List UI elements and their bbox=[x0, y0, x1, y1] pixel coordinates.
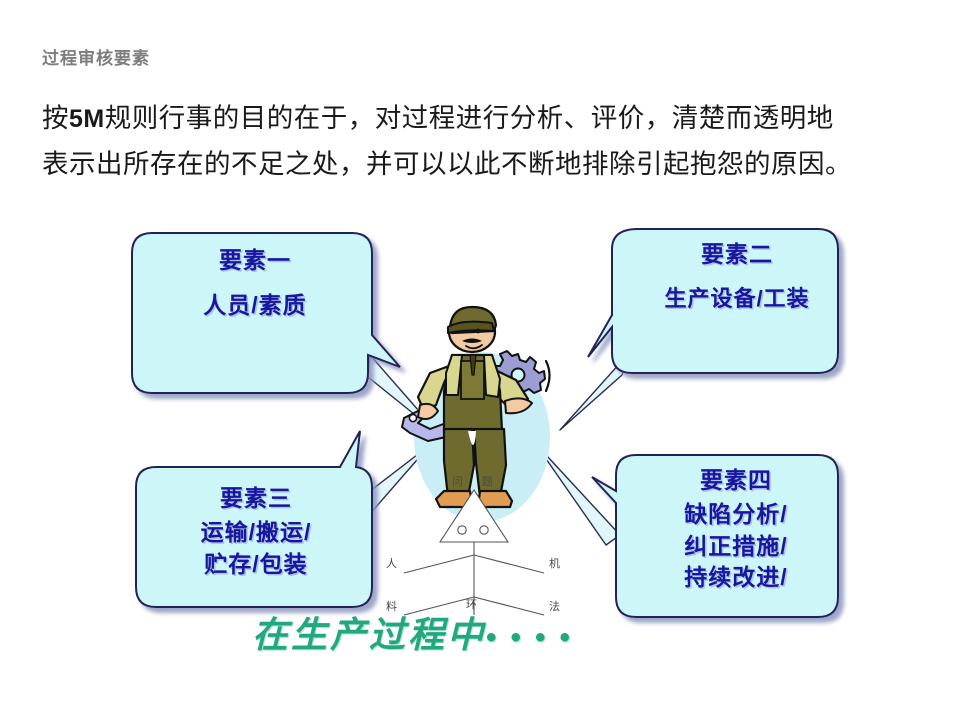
fishbone-eye-left bbox=[458, 526, 466, 534]
paragraph-line-1-post: 规则行事的目的在于，对过程进行分析、评价，清楚而透明地 bbox=[105, 103, 834, 133]
paragraph-line-1-latin: 5M bbox=[69, 105, 105, 133]
worker-eye bbox=[476, 329, 481, 334]
bubble-element-one[interactable] bbox=[132, 233, 400, 393]
fishbone-eye-right bbox=[480, 526, 488, 534]
paragraph-line-1: 按5M规则行事的目的在于，对过程进行分析、评价，清楚而透明地 bbox=[42, 96, 922, 142]
slide-body-paragraph: 按5M规则行事的目的在于，对过程进行分析、评价，清楚而透明地 表示出所存在的不足… bbox=[42, 96, 922, 187]
slide-kicker-title: 过程审核要素 bbox=[42, 44, 150, 69]
footer-caption: 在生产过程中•••• bbox=[252, 606, 584, 658]
fishbone-branch-ji bbox=[474, 555, 544, 573]
worker-cap-brim bbox=[448, 322, 494, 333]
bubble-element-three[interactable] bbox=[136, 431, 372, 607]
slide-canvas: 过程审核要素 按5M规则行事的目的在于，对过程进行分析、评价，清楚而透明地 表示… bbox=[0, 0, 960, 720]
fishbone-diagram bbox=[404, 490, 544, 615]
bubble-element-four[interactable] bbox=[592, 455, 838, 617]
worker-shirt-left bbox=[446, 355, 462, 395]
footer-caption-dots: •••• bbox=[486, 621, 584, 654]
fishbone-branch-ren bbox=[404, 555, 474, 573]
bubble-element-two[interactable] bbox=[588, 229, 838, 373]
paragraph-line-1-pre: 按 bbox=[42, 103, 69, 133]
paragraph-line-2: 表示出所存在的不足之处，并可以以此不断地排除引起抱怨的原因。 bbox=[42, 142, 922, 187]
footer-caption-text: 在生产过程中 bbox=[252, 614, 486, 655]
worker-illustration bbox=[402, 307, 550, 522]
